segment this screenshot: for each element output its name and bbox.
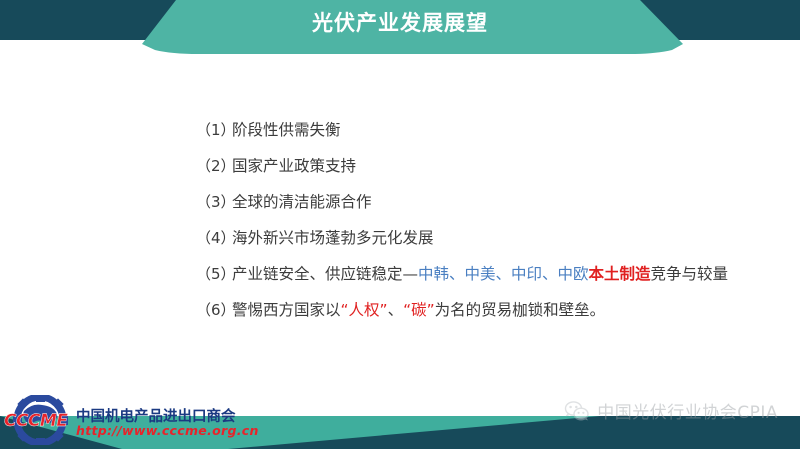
cccme-website-url[interactable]: http://www.cccme.org.cn [76,423,259,438]
list-item-number: （2） [196,155,232,176]
header-banner-cap-shape [142,44,683,54]
list-item-text-highlight-blue: 中韩、中美、中印、中欧 [418,262,589,284]
presentation-slide: 光伏产业发展展望 （1） 阶段性供需失衡 （2） 国家产业政策支持 （3） 全球… [0,0,800,449]
list-item: （1） 阶段性供需失衡 [196,118,776,154]
list-item: （5） 产业链安全、供应链稳定— 中韩、中美、中印、中欧 本土制造 竞争与较量 [196,262,776,298]
list-item-number: （4） [196,227,232,248]
list-item-text: 阶段性供需失衡 [232,118,341,140]
list-item-text-highlight-red: 本土制造 [589,262,651,284]
list-item-number: （5） [196,263,232,284]
list-item-text-plain: 产业链安全、供应链稳定— [232,262,418,284]
list-item-separator: 、 [388,298,404,320]
list-item-quote-carbon: “碳” [403,298,435,320]
wechat-icon [564,400,590,422]
list-item-number: （3） [196,191,232,212]
page-title: 光伏产业发展展望 [0,10,800,36]
list-item: （6） 警惕西方国家以 “人权” 、 “碳” 为名的贸易枷锁和壁垒。 [196,298,776,334]
list-item-text: 海外新兴市场蓬勃多元化发展 [232,226,434,248]
cpia-label: 中国光伏行业协会CPIA [597,398,778,423]
list-item-text-tail: 竞争与较量 [651,262,729,284]
list-item-text-plain: 警惕西方国家以 [232,298,341,320]
cpia-watermark: 中国光伏行业协会CPIA [564,398,778,423]
list-item-text: 全球的清洁能源合作 [232,190,372,212]
list-item-number: （1） [196,119,232,140]
list-item-number: （6） [196,299,232,320]
list-item: （4） 海外新兴市场蓬勃多元化发展 [196,226,776,262]
cccme-wordmark: CCCME [4,411,67,431]
list-item-text-tail: 为名的贸易枷锁和壁垒。 [435,298,606,320]
list-item-quote-human-rights: “人权” [341,298,388,320]
slide-header: 光伏产业发展展望 [0,0,800,56]
cccme-logo: CCCME 中国机电产品进出口商会 http://www.cccme.org.c… [4,395,254,445]
list-item-text: 国家产业政策支持 [232,154,356,176]
list-item: （3） 全球的清洁能源合作 [196,190,776,226]
list-item: （2） 国家产业政策支持 [196,154,776,190]
bullet-list: （1） 阶段性供需失衡 （2） 国家产业政策支持 （3） 全球的清洁能源合作 （… [196,118,776,334]
